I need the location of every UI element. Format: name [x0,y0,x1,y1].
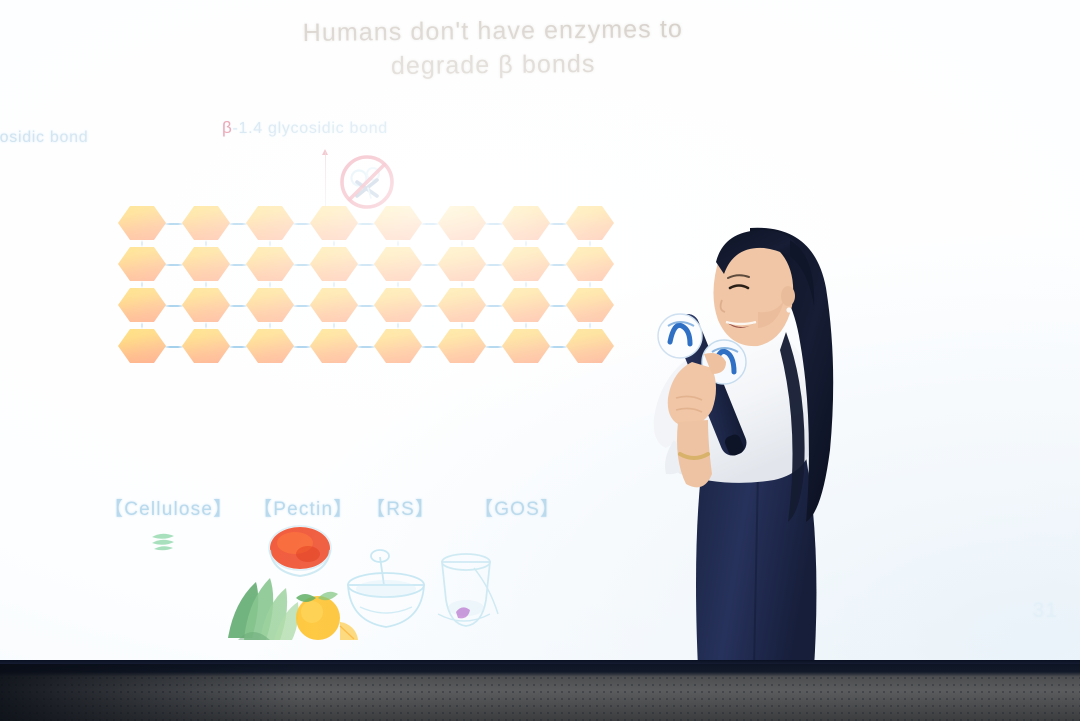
monomer-hexagon-icon [438,206,486,240]
jam-and-orange-icon [262,524,340,586]
monomer-hexagon-icon [502,247,550,281]
interchain-bond-line [397,322,399,329]
interchain-bond-line [269,322,271,329]
hexagon-row [118,206,628,242]
monomer-hexagon-icon [118,247,166,281]
glycosidic-bond-line [548,223,568,225]
monomer-hexagon-icon [182,247,230,281]
interchain-bond-line [589,322,591,329]
interchain-bond-line [525,322,527,329]
monomer-hexagon-icon [310,329,358,363]
interchain-bond-line [333,281,335,288]
interchain-bond-line [589,240,591,247]
glycosidic-bond-line [292,223,312,225]
monomer-hexagon-icon [246,247,294,281]
monomer-hexagon-icon [374,329,422,363]
fiber-label-cellulose: 【Cellulose】 [104,494,233,521]
glycosidic-bond-line [420,305,440,307]
mic-badge [658,314,702,358]
no-scissors-icon [337,152,397,212]
beta-symbol: β [222,118,232,137]
glycosidic-bond-line [292,346,312,348]
interchain-bond-line [205,281,207,288]
monomer-hexagon-icon [438,247,486,281]
hexagon-row [118,288,628,324]
presentation-photo: Humans don't have enzymes to degrade β b… [0,0,1080,721]
slide-title: Humans don't have enzymes to degrade β b… [258,12,729,85]
glycosidic-bond-line [292,264,312,266]
beta-bond-text: -1.4 glycosidic bond [232,120,387,137]
fiber-label-gos: 【GOS】 [474,494,560,521]
glycosidic-bond-line [228,223,248,225]
glycosidic-bond-line [484,264,504,266]
interchain-bond-line [461,281,463,288]
glycosidic-bond-line [484,223,504,225]
interchain-bond-line [397,281,399,288]
interchain-bond-line [461,322,463,329]
interchain-bond-line [397,240,399,247]
interchain-bond-line [205,322,207,329]
glass-bowl-icon [340,545,432,637]
glycosidic-bond-line [420,264,440,266]
monomer-hexagon-icon [310,288,358,322]
projection-screen: Humans don't have enzymes to degrade β b… [0,0,1080,665]
glycosidic-bond-line [164,346,184,348]
glycosidic-bond-line [228,305,248,307]
monomer-hexagon-icon [118,329,166,363]
monomer-hexagon-icon [566,329,614,363]
interchain-bond-line [525,281,527,288]
fiber-label-pectin: 【Pectin】 [253,494,353,521]
monomer-hexagon-icon [438,329,486,363]
glycosidic-bond-line [548,346,568,348]
polysaccharide-hexagon-grid [118,206,628,371]
interchain-bond-line [205,240,207,247]
monomer-hexagon-icon [182,329,230,363]
interchain-bond-line [589,281,591,288]
monomer-hexagon-icon [566,206,614,240]
glycosidic-bond-line [420,223,440,225]
monomer-hexagon-icon [566,247,614,281]
alpha-glycosidic-bond-label: lycosidic bond [0,129,88,147]
glycosidic-bond-line [484,305,504,307]
monomer-hexagon-icon [118,206,166,240]
hexagon-row [118,329,628,365]
glycosidic-bond-line [356,264,376,266]
hexagon-row [118,247,628,283]
glycosidic-bond-line [292,305,312,307]
monomer-hexagon-icon [246,206,294,240]
glycosidic-bond-line [420,346,440,348]
interchain-bond-line [141,281,143,288]
monomer-hexagon-icon [118,288,166,322]
glycosidic-bond-line [484,346,504,348]
slide-number: 31 [1033,599,1058,623]
monomer-hexagon-icon [502,288,550,322]
glycosidic-bond-line [164,223,184,225]
monomer-hexagon-icon [502,206,550,240]
interchain-bond-line [269,281,271,288]
fiber-label-rs: 【RS】 [366,494,435,521]
beaker-icon [420,548,506,638]
monomer-hexagon-icon [502,329,550,363]
glycosidic-bond-line [228,346,248,348]
monomer-hexagon-icon [182,288,230,322]
interchain-bond-line [333,322,335,329]
monomer-hexagon-icon [374,247,422,281]
monomer-hexagon-icon [310,247,358,281]
leaf-sprout-icon [148,529,184,555]
interchain-bond-line [269,240,271,247]
interchain-bond-line [461,240,463,247]
monomer-hexagon-icon [438,288,486,322]
beta-glycosidic-bond-label: β-1.4 glycosidic bond [222,118,388,138]
glycosidic-bond-line [228,264,248,266]
stage-wall-shadow [0,664,300,721]
monomer-hexagon-icon [246,329,294,363]
monomer-hexagon-icon [566,288,614,322]
monomer-hexagon-icon [246,288,294,322]
glycosidic-bond-line [164,305,184,307]
glycosidic-bond-line [548,264,568,266]
glycosidic-bond-line [356,223,376,225]
glycosidic-bond-line [356,346,376,348]
glycosidic-bond-line [356,305,376,307]
monomer-hexagon-icon [310,206,358,240]
interchain-bond-line [333,240,335,247]
glycosidic-bond-line [548,305,568,307]
interchain-bond-line [141,322,143,329]
presenter [608,222,908,668]
monomer-hexagon-icon [182,206,230,240]
monomer-hexagon-icon [374,206,422,240]
monomer-hexagon-icon [374,288,422,322]
interchain-bond-line [141,240,143,247]
glycosidic-bond-line [164,264,184,266]
interchain-bond-line [525,240,527,247]
